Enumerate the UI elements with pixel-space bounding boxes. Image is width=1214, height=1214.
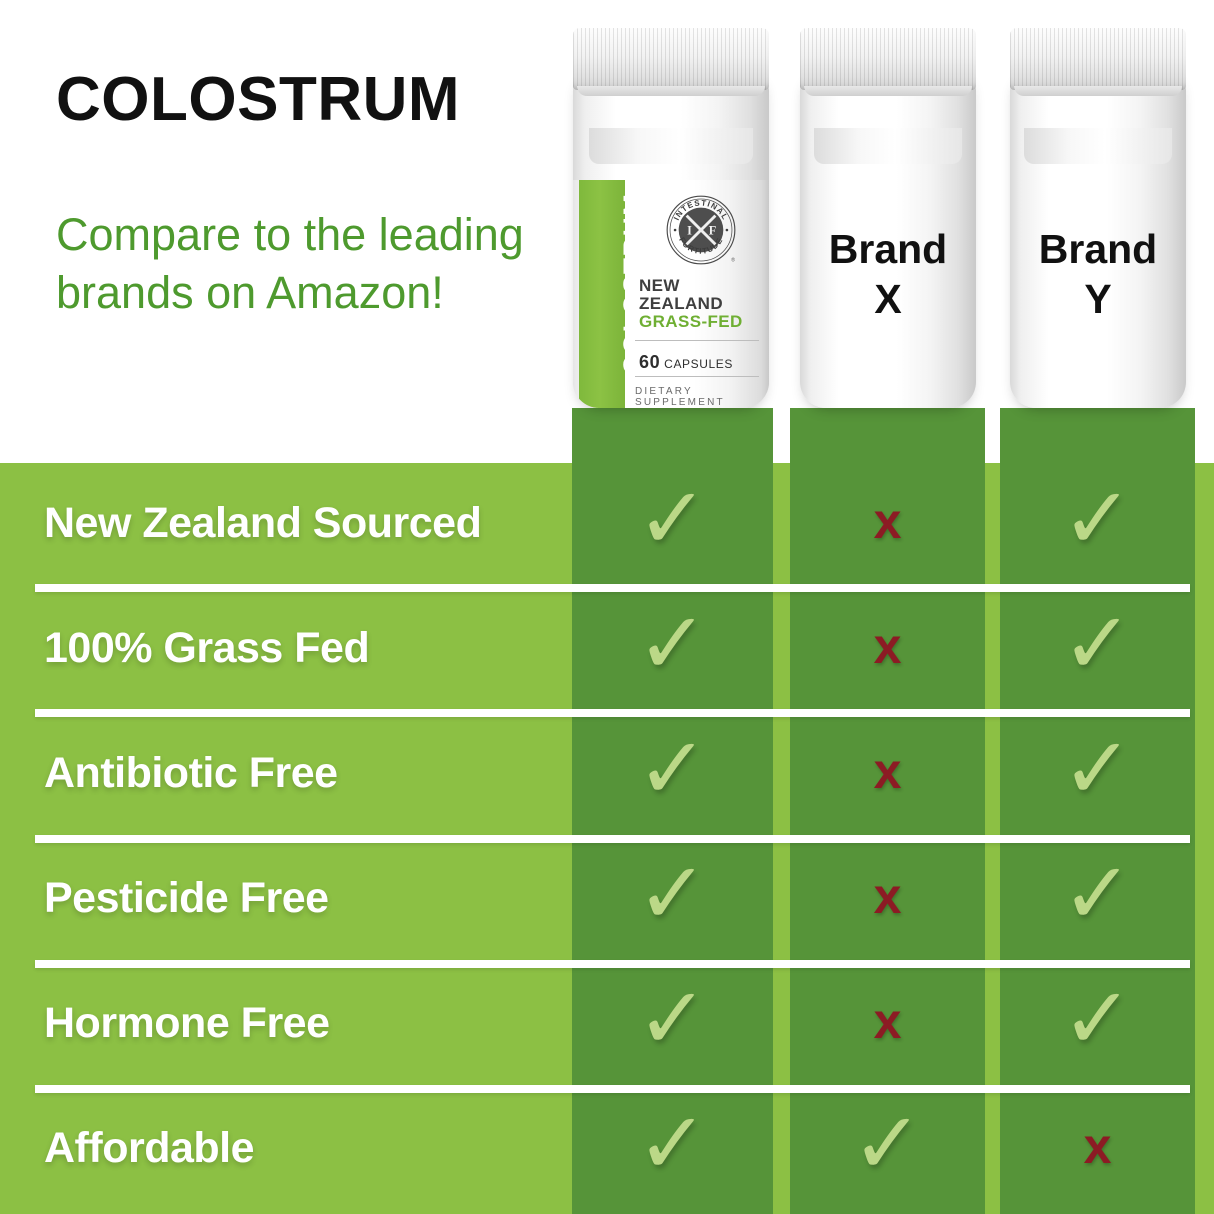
check-icon-brand-y-row-5: ✓	[1000, 976, 1195, 1062]
brand-y-bottle: Brand Y	[1010, 28, 1186, 408]
svg-text:I: I	[687, 223, 692, 237]
row-label-pesticide-free: Pesticide Free	[44, 874, 329, 923]
cross-icon-brand-x-row-3: x	[790, 746, 985, 796]
label-green-strip: COLOSTRUM	[579, 180, 625, 408]
row-separator	[35, 960, 1190, 968]
brand-y-bottle-neck	[1024, 128, 1172, 164]
label-divider-top	[635, 340, 759, 341]
brand-y-label: Brand Y	[1010, 224, 1186, 324]
row-label-new-zealand-sourced: New Zealand Sourced	[44, 499, 481, 548]
brand-y-label-line1: Brand	[1039, 226, 1157, 272]
product-bottle-cap	[573, 28, 769, 90]
check-icon-colostrum-intestinal-fortitude-row-4: ✓	[572, 851, 773, 937]
label-capsule-count: 60 CAPSULES	[639, 352, 733, 373]
cross-icon-brand-x-row-1: x	[790, 496, 985, 546]
check-icon-colostrum-intestinal-fortitude-row-5: ✓	[572, 976, 773, 1062]
check-icon-brand-y-row-3: ✓	[1000, 726, 1195, 812]
brand-x-bottle: Brand X	[800, 28, 976, 408]
brand-x-label: Brand X	[800, 224, 976, 324]
page-subtitle: Compare to the leading brands on Amazon!	[56, 206, 526, 321]
check-icon-colostrum-intestinal-fortitude-row-3: ✓	[572, 726, 773, 812]
product-bottle-neck	[589, 128, 754, 164]
cross-icon-brand-x-row-2: x	[790, 621, 985, 671]
intestinal-fortitude-logo-icon: INTESTINAL FORTITUDE I F ®	[665, 194, 737, 266]
check-icon-colostrum-intestinal-fortitude-row-6: ✓	[572, 1101, 773, 1187]
label-dietary-supplement: DIETARY SUPPLEMENT	[635, 386, 769, 408]
check-icon-brand-y-row-2: ✓	[1000, 601, 1195, 687]
check-icon-brand-x-row-6: ✓	[790, 1101, 985, 1187]
cross-icon-brand-x-row-4: x	[790, 871, 985, 921]
row-label-100-grass-fed: 100% Grass Fed	[44, 624, 369, 673]
label-line-grass-fed: GRASS-FED	[639, 312, 743, 332]
brand-x-bottle-neck	[814, 128, 962, 164]
row-separator	[35, 1085, 1190, 1093]
label-capsule-unit: CAPSULES	[664, 357, 733, 371]
brand-y-label-line2: Y	[1010, 274, 1186, 324]
infographic-canvas: COLOSTRUM Compare to the leading brands …	[0, 0, 1214, 1214]
cross-icon-brand-y-row-6: x	[1000, 1121, 1195, 1171]
row-label-affordable: Affordable	[44, 1124, 254, 1173]
brand-x-bottle-body: Brand X	[800, 72, 976, 408]
row-separator	[35, 584, 1190, 592]
svg-text:F: F	[709, 223, 716, 237]
row-separator	[35, 835, 1190, 843]
brand-x-bottle-cap	[800, 28, 976, 90]
check-icon-brand-y-row-1: ✓	[1000, 476, 1195, 562]
svg-text:®: ®	[731, 257, 735, 264]
check-icon-colostrum-intestinal-fortitude-row-2: ✓	[572, 601, 773, 687]
label-capsule-number: 60	[639, 352, 660, 372]
label-divider-bottom	[635, 376, 759, 377]
brand-x-label-line2: X	[800, 274, 976, 324]
brand-y-bottle-body: Brand Y	[1010, 72, 1186, 408]
brand-y-bottle-cap	[1010, 28, 1186, 90]
check-icon-colostrum-intestinal-fortitude-row-1: ✓	[572, 476, 773, 562]
row-separator	[35, 709, 1190, 717]
product-bottle-body: COLOSTRUM INTESTINAL	[573, 72, 769, 408]
product-label: COLOSTRUM INTESTINAL	[573, 180, 769, 408]
page-title: COLOSTRUM	[56, 64, 460, 135]
cross-icon-brand-x-row-5: x	[790, 996, 985, 1046]
row-label-hormone-free: Hormone Free	[44, 999, 330, 1048]
product-bottle: COLOSTRUM INTESTINAL	[573, 28, 769, 408]
row-label-antibiotic-free: Antibiotic Free	[44, 749, 338, 798]
brand-x-label-line1: Brand	[829, 226, 947, 272]
check-icon-brand-y-row-4: ✓	[1000, 851, 1195, 937]
